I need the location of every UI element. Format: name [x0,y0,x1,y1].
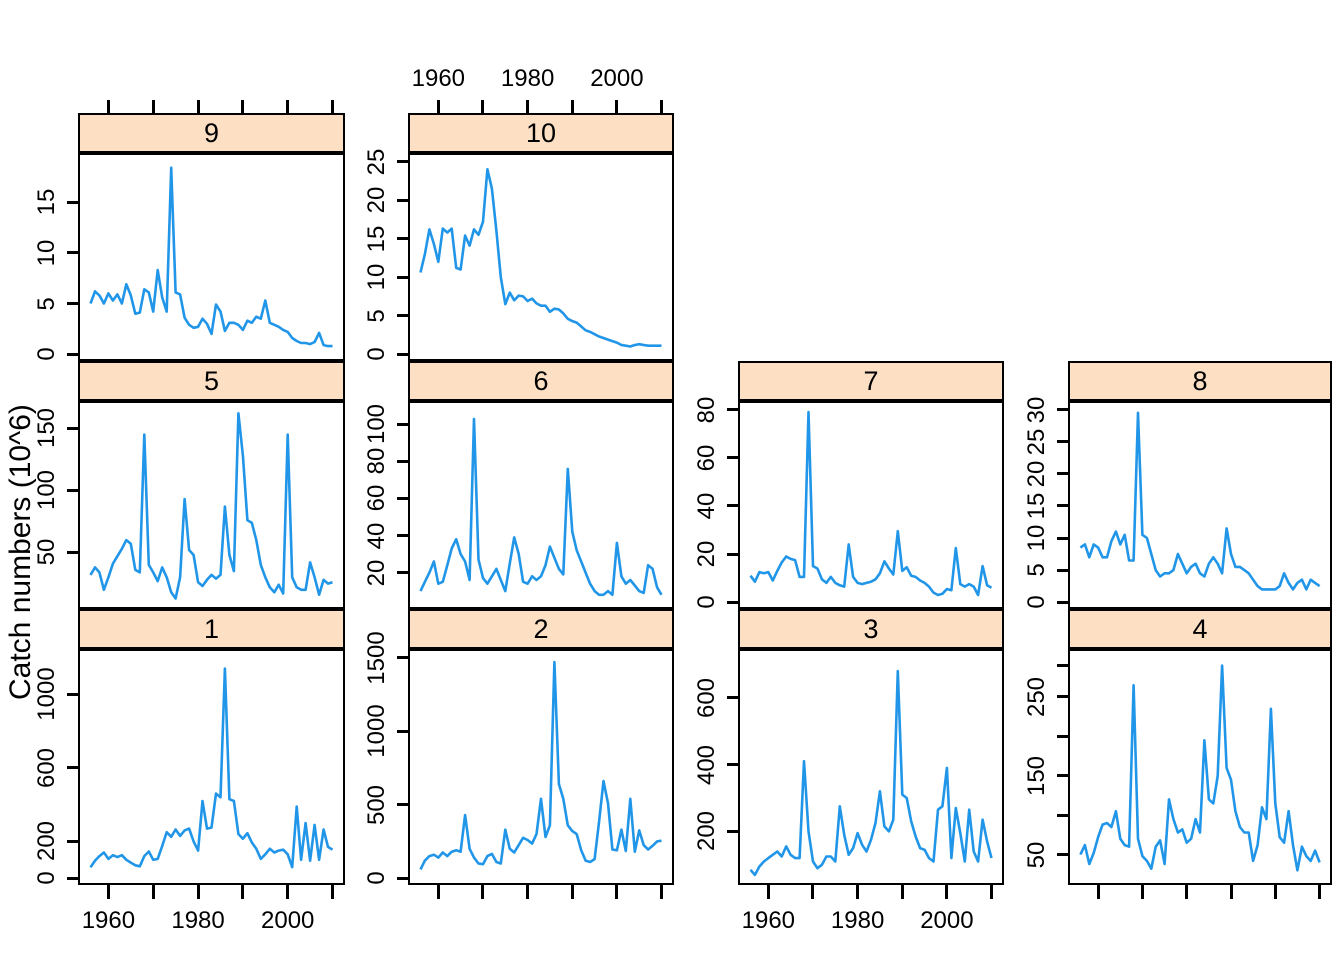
y-tick-2-0 [397,877,408,880]
y-tick-8-5 [1057,440,1068,443]
x-tick-bottom-4-1 [1141,885,1144,899]
x-axis-label-bottom-1-1: 1980 [171,907,224,935]
x-tick-bottom-2-1 [481,885,484,899]
y-tick-label-8-1: 5 [1023,563,1051,576]
y-tick-label-1-2: 600 [33,748,61,788]
x-axis-label-bottom-3-1: 1980 [831,907,884,935]
y-tick-9-3 [67,201,78,204]
y-tick-label-3-2: 600 [693,678,721,718]
y-tick-3-0 [727,830,738,833]
y-tick-label-8-3: 15 [1023,493,1051,520]
y-tick-label-7-2: 40 [693,493,721,520]
y-tick-label-5-1: 100 [33,470,61,510]
series-line-4 [1070,651,1330,883]
x-tick-bottom-1-5 [331,885,334,899]
plot-panel-10 [408,153,674,361]
y-tick-8-2 [1057,537,1068,540]
y-tick-label-8-6: 30 [1023,396,1051,423]
x-tick-top-10-4 [615,100,618,113]
y-tick-label-9-2: 10 [33,239,61,266]
y-tick-label-9-3: 15 [33,189,61,216]
x-tick-bottom-4-2 [1185,885,1188,899]
y-tick-label-6-0: 20 [363,559,391,586]
strip-header-4: 4 [1068,609,1332,649]
y-tick-7-3 [727,456,738,459]
y-tick-3-2 [727,696,738,699]
y-tick-label-4-2: 150 [1023,756,1051,796]
y-tick-10-5 [397,160,408,163]
y-tick-4-3 [1057,735,1068,738]
y-tick-label-8-4: 20 [1023,460,1051,487]
y-tick-10-4 [397,199,408,202]
y-tick-2-1 [397,803,408,806]
x-tick-top-9-4 [286,100,289,113]
strip-label: 3 [863,616,878,643]
y-tick-label-10-1: 5 [363,309,391,322]
x-tick-bottom-1-3 [241,885,244,899]
series-line-8 [1070,403,1330,607]
x-tick-bottom-2-5 [660,885,663,899]
trellis-figure: Catch numbers (10^6) 9051015100510152025… [0,0,1344,960]
y-tick-5-1 [67,489,78,492]
x-tick-bottom-2-3 [571,885,574,899]
y-tick-label-2-1: 500 [363,785,391,825]
x-tick-top-10-1 [481,100,484,113]
y-tick-4-4 [1057,695,1068,698]
plot-panel-9 [78,153,345,361]
y-tick-10-0 [397,353,408,356]
y-tick-9-1 [67,302,78,305]
y-tick-10-2 [397,276,408,279]
y-tick-3-1 [727,763,738,766]
x-tick-bottom-3-3 [901,885,904,899]
y-tick-7-0 [727,601,738,604]
plot-panel-5 [78,401,345,609]
y-tick-1-1 [67,840,78,843]
y-tick-label-6-3: 80 [363,448,391,475]
y-tick-label-2-2: 1000 [363,704,391,757]
y-tick-1-0 [67,877,78,880]
y-tick-6-0 [397,571,408,574]
y-tick-6-2 [397,497,408,500]
y-tick-10-1 [397,314,408,317]
strip-header-3: 3 [738,609,1004,649]
y-tick-6-4 [397,423,408,426]
y-tick-4-2 [1057,774,1068,777]
strip-header-5: 5 [78,361,345,401]
x-tick-bottom-3-2 [856,885,859,899]
x-tick-bottom-3-5 [990,885,993,899]
y-tick-5-2 [67,427,78,430]
y-tick-9-2 [67,251,78,254]
y-tick-8-3 [1057,504,1068,507]
y-tick-label-10-4: 20 [363,187,391,214]
x-axis-label-top-1: 1980 [501,65,554,93]
y-tick-8-0 [1057,601,1068,604]
x-axis-label-bottom-3-0: 1960 [742,907,795,935]
x-tick-top-10-3 [571,100,574,113]
x-axis-label-bottom-3-2: 2000 [920,907,973,935]
x-tick-bottom-2-4 [615,885,618,899]
strip-label: 1 [204,616,219,643]
x-tick-bottom-4-4 [1274,885,1277,899]
y-tick-label-10-0: 0 [363,348,391,361]
x-tick-bottom-4-0 [1097,885,1100,899]
y-tick-label-4-0: 50 [1023,841,1051,868]
series-line-7 [740,403,1002,607]
strip-header-10: 10 [408,113,674,153]
y-tick-label-2-3: 1500 [363,631,391,684]
y-tick-label-1-0: 0 [33,872,61,885]
y-tick-label-6-2: 60 [363,485,391,512]
y-tick-label-1-1: 200 [33,821,61,861]
y-tick-label-7-3: 60 [693,444,721,471]
strip-label: 2 [533,616,548,643]
x-tick-top-9-0 [107,100,110,113]
strip-label: 7 [863,368,878,395]
series-line-1 [80,651,343,883]
y-tick-7-2 [727,504,738,507]
x-tick-top-10-2 [526,100,529,113]
y-tick-5-0 [67,551,78,554]
x-tick-top-9-3 [241,100,244,113]
strip-header-7: 7 [738,361,1004,401]
x-axis-label-top-2: 2000 [590,65,643,93]
x-tick-bottom-1-0 [107,885,110,899]
strip-label: 6 [533,368,548,395]
x-tick-bottom-4-5 [1318,885,1321,899]
x-tick-bottom-4-3 [1230,885,1233,899]
x-tick-top-10-0 [437,100,440,113]
y-tick-4-1 [1057,814,1068,817]
y-tick-label-4-4: 250 [1023,677,1051,717]
y-tick-2-3 [397,656,408,659]
x-tick-top-9-2 [197,100,200,113]
x-tick-bottom-3-0 [767,885,770,899]
plot-panel-7 [738,401,1004,609]
y-tick-10-3 [397,237,408,240]
y-tick-label-10-3: 15 [363,225,391,252]
series-line-2 [410,651,672,883]
series-line-5 [80,403,343,607]
strip-label: 5 [204,368,219,395]
strip-header-2: 2 [408,609,674,649]
y-tick-label-6-1: 40 [363,522,391,549]
x-tick-top-9-5 [331,100,334,113]
y-tick-label-8-0: 0 [1023,596,1051,609]
y-tick-4-0 [1057,853,1068,856]
strip-header-6: 6 [408,361,674,401]
y-tick-label-6-4: 100 [363,404,391,444]
y-tick-label-7-0: 0 [693,596,721,609]
strip-label: 8 [1192,368,1207,395]
y-tick-label-10-2: 10 [363,264,391,291]
y-tick-label-8-2: 10 [1023,525,1051,552]
x-tick-bottom-2-2 [526,885,529,899]
plot-panel-1 [78,649,345,885]
y-tick-2-2 [397,730,408,733]
y-tick-8-4 [1057,472,1068,475]
y-tick-label-9-0: 0 [33,348,61,361]
plot-panel-4 [1068,649,1332,885]
x-tick-bottom-3-1 [811,885,814,899]
y-tick-6-1 [397,534,408,537]
y-tick-4-5 [1057,664,1068,667]
y-tick-label-5-0: 50 [33,539,61,566]
strip-label: 4 [1192,616,1207,643]
plot-panel-3 [738,649,1004,885]
strip-header-8: 8 [1068,361,1332,401]
y-tick-label-10-5: 25 [363,148,391,175]
x-tick-bottom-1-1 [152,885,155,899]
x-axis-label-bottom-1-0: 1960 [82,907,135,935]
series-line-9 [80,155,343,359]
y-tick-1-3 [67,693,78,696]
strip-label: 10 [526,120,556,147]
y-tick-label-1-3: 1000 [33,668,61,721]
series-line-6 [410,403,672,607]
strip-label: 9 [204,120,219,147]
strip-header-1: 1 [78,609,345,649]
plot-panel-2 [408,649,674,885]
y-tick-label-9-1: 5 [33,297,61,310]
y-tick-label-2-0: 0 [363,872,391,885]
y-tick-9-0 [67,353,78,356]
x-tick-bottom-2-0 [437,885,440,899]
y-tick-6-3 [397,460,408,463]
x-axis-label-top-0: 1960 [412,65,465,93]
x-tick-bottom-3-4 [945,885,948,899]
y-tick-label-5-2: 150 [33,408,61,448]
series-line-10 [410,155,672,359]
y-tick-label-8-5: 25 [1023,428,1051,455]
x-tick-bottom-1-2 [197,885,200,899]
y-tick-1-2 [67,766,78,769]
y-tick-8-6 [1057,408,1068,411]
y-tick-label-3-0: 200 [693,811,721,851]
y-tick-7-4 [727,408,738,411]
y-tick-7-1 [727,553,738,556]
y-tick-label-7-1: 20 [693,541,721,568]
y-tick-8-1 [1057,569,1068,572]
x-tick-bottom-1-4 [286,885,289,899]
y-tick-label-3-1: 400 [693,745,721,785]
strip-header-9: 9 [78,113,345,153]
y-tick-label-7-4: 80 [693,396,721,423]
plot-panel-6 [408,401,674,609]
x-tick-top-10-5 [660,100,663,113]
x-axis-label-bottom-1-2: 2000 [261,907,314,935]
x-tick-top-9-1 [152,100,155,113]
series-line-3 [740,651,1002,883]
plot-panel-8 [1068,401,1332,609]
